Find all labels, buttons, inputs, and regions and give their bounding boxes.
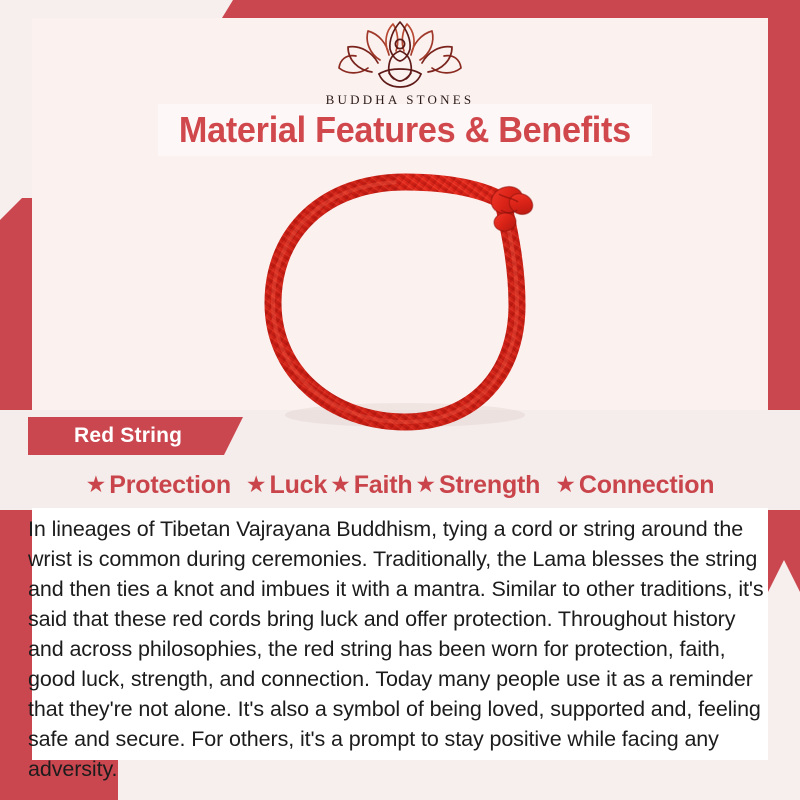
benefit-item-luck: ★ Luck	[246, 471, 327, 500]
star-icon: ★	[246, 473, 267, 496]
benefit-label: Luck	[270, 471, 328, 500]
product-label-banner: Red String	[28, 417, 243, 455]
benefit-item-connection: ★ Connection	[555, 471, 714, 500]
benefit-label: Protection	[109, 471, 231, 500]
benefit-label: Faith	[354, 471, 413, 500]
benefit-item-strength: ★ Strength	[415, 471, 540, 500]
star-icon: ★	[555, 473, 576, 496]
description-text: In lineages of Tibetan Vajrayana Buddhis…	[28, 514, 770, 784]
product-label-text: Red String	[74, 424, 182, 448]
benefit-label: Connection	[579, 471, 715, 500]
infographic-page: BUDDHA STONES Material Features & Benefi…	[0, 0, 800, 800]
product-image-red-string-bracelet	[255, 160, 585, 450]
star-icon: ★	[86, 473, 107, 496]
star-icon: ★	[415, 473, 436, 496]
page-title: Material Features & Benefits	[179, 109, 631, 151]
benefit-item-protection: ★ Protection	[86, 471, 231, 500]
top-red-band	[222, 0, 800, 18]
brand-logo: BUDDHA STONES	[0, 18, 800, 108]
benefit-item-faith: ★ Faith	[330, 471, 412, 500]
benefits-row: ★ Protection ★ Luck ★ Faith ★ Strength ★…	[32, 462, 768, 508]
lotus-meditation-figure-icon	[332, 18, 468, 90]
benefit-label: Strength	[439, 471, 540, 500]
title-band: Material Features & Benefits	[158, 104, 652, 156]
star-icon: ★	[330, 473, 351, 496]
